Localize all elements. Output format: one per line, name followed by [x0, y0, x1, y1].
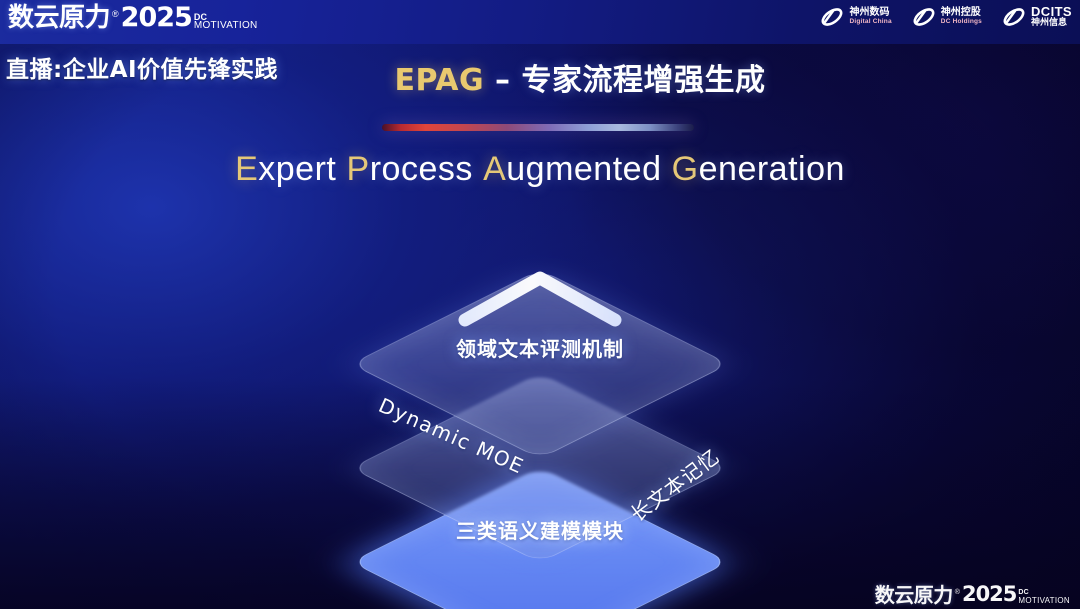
brand-dc-motivation: DC MOTIVATION: [1018, 590, 1070, 604]
partner-name-en: DC Holdings: [941, 19, 982, 26]
subtitle-word-augmented: Augmented: [483, 150, 661, 188]
partner-logo-digital-china: 神州数码 Digital China: [820, 5, 891, 29]
title-acronym: EPAG: [395, 63, 485, 98]
brand-registered-mark: ®: [112, 10, 119, 19]
diagram-layer-top: [268, 228, 812, 500]
brand-dc-line2: MOTIVATION: [194, 21, 258, 30]
subtitle-rest-augmented: ugmented: [506, 150, 661, 188]
partner-text-block: DCITS 神州信息: [1031, 5, 1072, 28]
brand-dc-line2: MOTIVATION: [1018, 597, 1070, 604]
subtitle-cap-e: E: [235, 150, 258, 188]
partner-text-block: 神州数码 Digital China: [849, 8, 891, 25]
layered-stack-diagram: 领域文本评测机制 Dynamic MOE 长文本记忆 三类语义建模模块: [268, 228, 812, 576]
title-separator: –: [484, 63, 521, 98]
partner-name-en: Digital China: [849, 19, 891, 26]
subtitle-english: ExpertProcessAugmentedGeneration: [0, 150, 1080, 189]
partner-logo-dc-holdings: 神州控股 DC Holdings: [912, 5, 982, 29]
subtitle-rest-process: rocess: [370, 150, 473, 188]
gradient-divider: [382, 124, 694, 131]
partner-text-block: 神州控股 DC Holdings: [941, 8, 982, 25]
brand-name-cn: 数云原力: [8, 5, 110, 31]
brand-logo-watermark: 数云原力 ® 2025 DC MOTIVATION: [875, 584, 1070, 605]
swoosh-logo-icon: [1002, 5, 1026, 29]
partner-logo-dcits: DCITS 神州信息: [1002, 5, 1072, 29]
swoosh-logo-icon: [820, 5, 844, 29]
slide-stage: 数云原力 ® 2025 DC MOTIVATION 直播:企业AI价值先锋实践 …: [0, 0, 1080, 609]
brand-year: 2025: [962, 584, 1016, 605]
brand-dc-motivation: DC MOTIVATION: [194, 13, 258, 30]
live-broadcast-subtitle: 直播:企业AI价值先锋实践: [6, 50, 278, 84]
brand-name-cn: 数云原力: [875, 585, 953, 605]
subtitle-cap-g: G: [672, 150, 699, 188]
brand-logo-top-left: 数云原力 ® 2025 DC MOTIVATION: [8, 4, 258, 31]
swoosh-logo-icon: [912, 5, 936, 29]
subtitle-rest-expert: xpert: [258, 150, 336, 188]
brand-year: 2025: [121, 4, 192, 31]
subtitle-cap-p: P: [347, 150, 370, 188]
title-chinese: 专家流程增强生成: [521, 63, 765, 98]
subtitle-word-expert: Expert: [235, 150, 336, 188]
partner-logos-group: 神州数码 Digital China 神州控股 DC Holdings: [820, 5, 1072, 29]
layer-plate-top: [350, 269, 729, 459]
subtitle-cap-a: A: [483, 150, 506, 188]
partner-name-cn: 神州信息: [1031, 19, 1072, 28]
brand-registered-mark: ®: [955, 589, 960, 596]
subtitle-word-generation: Generation: [672, 150, 845, 188]
subtitle-rest-generation: eneration: [699, 150, 845, 188]
subtitle-word-process: Process: [347, 150, 473, 188]
